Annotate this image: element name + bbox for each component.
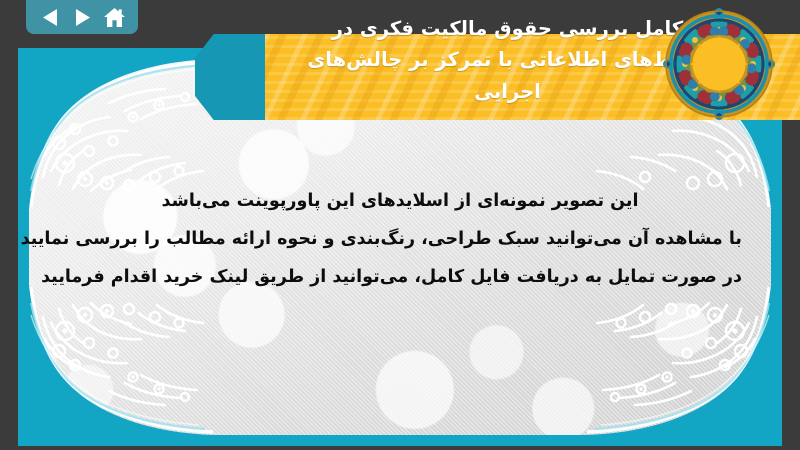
persian-mandala-medallion-icon: [663, 8, 775, 120]
triangle-right-icon: [74, 8, 91, 27]
home-button[interactable]: [101, 5, 127, 29]
back-button[interactable]: [37, 5, 63, 29]
triangle-left-icon: [42, 8, 59, 27]
slide-body-text: این تصویر نمونه‌ای از اسلایدهای این پاور…: [58, 182, 742, 296]
title-line: محیط‌های اطلاعاتی با تمرکز بر چالش‌های: [307, 44, 707, 76]
banner-arrow-tail: [195, 34, 267, 120]
body-line: این تصویر نمونه‌ای از اسلایدهای این پاور…: [58, 182, 742, 220]
title-line: کامل بررسی حقوق مالکیت فکری در: [332, 13, 683, 45]
forward-button[interactable]: [69, 5, 95, 29]
body-line: با مشاهده آن می‌توانید سبک طراحی، رنگ‌بن…: [58, 220, 742, 258]
home-icon: [103, 7, 126, 28]
body-line: در صورت تمایل به دریافت فایل کامل، می‌تو…: [58, 258, 742, 296]
slide-viewer: این تصویر نمونه‌ای از اسلایدهای این پاور…: [0, 0, 800, 450]
navigation-toolbar: [26, 0, 138, 34]
title-line: اجرایی: [474, 76, 541, 108]
